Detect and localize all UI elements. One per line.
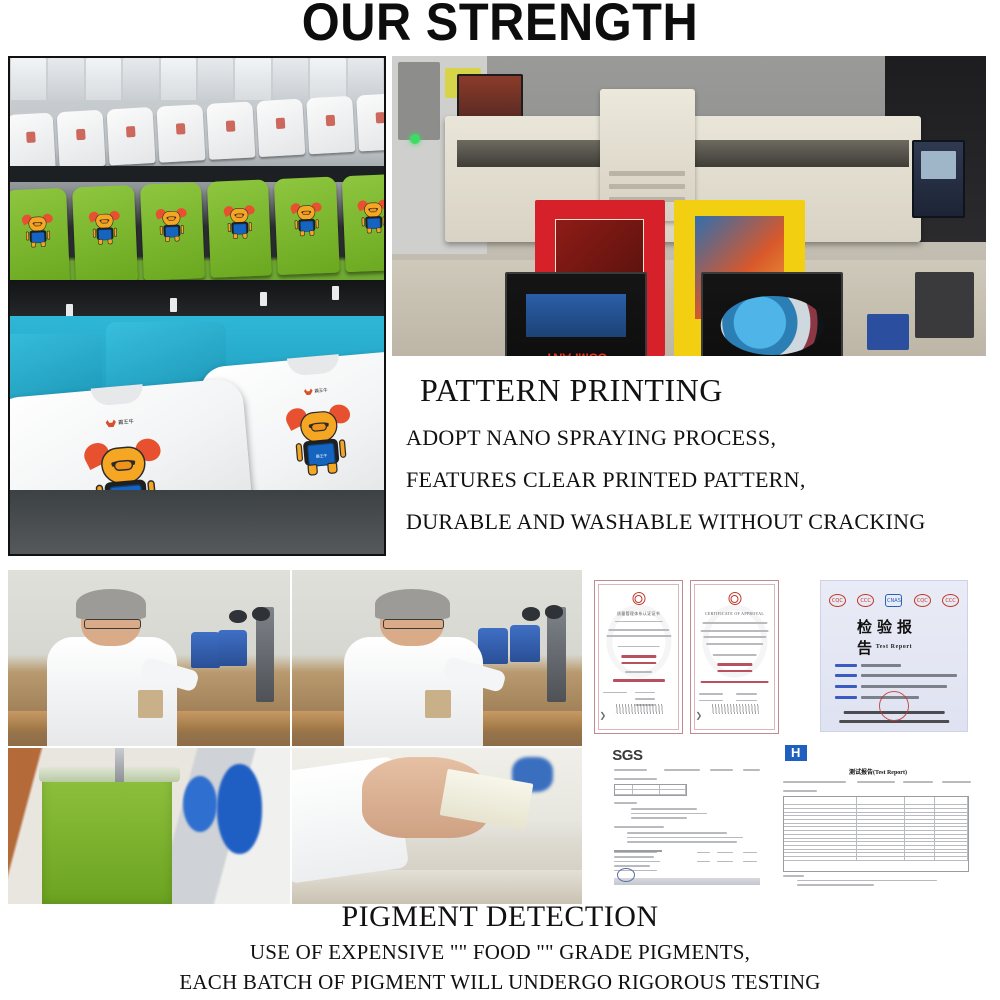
report-text <box>631 813 707 815</box>
white-shirt-pallet <box>306 96 355 154</box>
bull-arm-icon <box>295 220 298 229</box>
bull-leg-icon <box>300 231 305 237</box>
bull-leg-icon <box>309 230 314 236</box>
photo-hand-test-strip <box>292 748 582 904</box>
bull-leg-icon <box>327 462 338 474</box>
bull-snout-icon <box>100 219 108 224</box>
page-title: OUR STRENGTH <box>0 0 1000 48</box>
infographic-page: OUR STRENGTH <box>0 0 1000 1000</box>
photo-lab-technician-testing <box>292 570 582 746</box>
bull-leg-icon <box>98 239 103 245</box>
certificate-standard <box>717 670 752 673</box>
technician-hair <box>375 589 450 619</box>
certificate-iso-chinese: 质量管理体系认证证书 ❯ <box>592 578 685 736</box>
field-value <box>861 685 947 688</box>
bull-arm-icon <box>114 228 117 237</box>
white-shirt-pallet <box>156 104 205 162</box>
certificate-title: 质量管理体系认证证书 <box>617 611 660 617</box>
mascot-print <box>291 201 321 237</box>
table-row-line <box>614 865 651 867</box>
report-field <box>942 781 972 783</box>
blue-mixer-unit <box>218 630 247 666</box>
certificate-inspection-report: CQC CCC CNAS CQC CCC 检验报告 Test Report <box>820 580 968 732</box>
bull-mascot-icon <box>22 212 52 248</box>
white-shirt-pallet <box>356 93 386 151</box>
blue-container <box>867 314 909 350</box>
mascot-print <box>157 207 187 243</box>
field-value <box>861 674 957 677</box>
certificate-line <box>703 636 766 638</box>
equipment-stand <box>547 607 566 702</box>
certificate-field <box>699 700 723 702</box>
wall-cables <box>398 62 440 140</box>
h-lab-logo: H <box>785 745 807 761</box>
black-shirt-sharks: SHARKS <box>701 272 844 356</box>
table-value <box>697 861 710 863</box>
bull-mascot-icon <box>90 210 120 246</box>
certificate-field <box>635 698 655 700</box>
printhead-vent <box>609 171 685 176</box>
report-section <box>614 802 637 804</box>
equipment-knob-icon <box>545 605 564 619</box>
bull-snout-icon <box>235 213 243 218</box>
table-row-line <box>614 852 657 854</box>
bull-leg-icon <box>377 227 382 233</box>
table-value <box>717 861 734 863</box>
safety-glasses-icon <box>383 619 444 630</box>
bull-leg-icon <box>367 228 372 234</box>
bull-head-logo-icon <box>105 419 116 427</box>
lab-technician <box>47 595 177 746</box>
printhead-vent <box>609 184 685 189</box>
certification-logos-row: CQC CCC CNAS CQC CCC <box>829 591 959 611</box>
shirt-collar <box>91 384 144 406</box>
hanging-garment <box>161 58 196 100</box>
table-value <box>697 852 710 854</box>
power-indicator-icon <box>410 134 420 144</box>
hanging-garment <box>86 58 121 100</box>
pattern-printing-line-3: DURABLE AND WASHABLE WITHOUT CRACKING <box>406 509 1000 535</box>
bull-snout-icon <box>168 216 176 221</box>
report-text <box>627 841 737 843</box>
white-shirt-pallet <box>256 99 305 157</box>
pallet-clip <box>170 298 177 312</box>
inspection-report-title-en: Test Report <box>876 644 913 650</box>
certificate-mark-icon: ❯ <box>599 711 606 720</box>
blue-mixer-unit <box>510 625 540 661</box>
mascot-print: 霸王牛 霸王牛 <box>287 402 353 479</box>
report-section <box>614 778 657 780</box>
green-shirt-pallet <box>140 182 205 280</box>
white-shirt-pallet <box>8 113 56 171</box>
bull-mascot-icon <box>157 207 187 243</box>
overall-brand-text: 霸王牛 <box>316 452 328 459</box>
bull-leg-icon <box>242 233 247 239</box>
certificate-line <box>608 629 669 631</box>
report-field <box>903 781 933 783</box>
report-text <box>627 837 743 839</box>
bull-leg-icon <box>40 242 45 248</box>
certificate-standard <box>621 655 656 658</box>
green-shirt-row <box>8 174 386 291</box>
technician-hair <box>76 589 146 619</box>
bull-head-logo-icon <box>304 388 313 395</box>
equipment-knob-icon <box>252 607 270 621</box>
certificate-iso-english: CERTIFICATE OF APPROVAL ❯ <box>688 578 781 736</box>
printer-control-panel[interactable] <box>912 140 965 218</box>
table-value <box>717 852 734 854</box>
bull-arm-icon <box>295 443 303 462</box>
green-shirt-pallet <box>72 185 137 283</box>
report-field <box>857 781 895 783</box>
pigment-detection-heading: PIGMENT DETECTION <box>0 900 1000 934</box>
certificate-standard <box>717 663 752 666</box>
report-note <box>783 875 804 877</box>
hanging-garment <box>123 58 158 100</box>
blue-mixer-unit <box>191 632 220 668</box>
certificate-mark-icon: ❯ <box>695 711 702 720</box>
bull-arm-icon <box>25 231 28 240</box>
bull-arm-icon <box>339 439 347 458</box>
ccc-logo-icon-2: CCC <box>942 594 959 607</box>
bull-arm-icon <box>93 229 96 238</box>
report-section <box>783 790 817 792</box>
field-label <box>835 696 857 699</box>
certificate-scope <box>612 679 664 682</box>
certificate-line <box>606 635 671 637</box>
report-text <box>631 808 697 810</box>
hanging-garment <box>198 58 233 100</box>
bull-leg-icon <box>108 239 113 245</box>
equipment-knob-icon <box>522 607 541 621</box>
white-shirt-pallet <box>57 110 106 168</box>
safety-glasses-icon <box>84 619 141 630</box>
sgs-test-report: SGS <box>604 742 770 892</box>
green-shirt-pallet <box>207 179 272 277</box>
certificate-title: CERTIFICATE OF APPROVAL <box>705 611 764 616</box>
field-label <box>835 674 857 677</box>
background-equipment <box>183 776 217 832</box>
table-row-line <box>614 861 660 863</box>
panel-display <box>921 151 957 179</box>
hanging-garments-row <box>10 58 384 100</box>
report-field <box>664 769 701 771</box>
hanging-garment <box>273 58 308 100</box>
bull-arm-icon <box>316 219 319 228</box>
certificate-line <box>614 621 662 623</box>
bull-mascot-icon: 霸王牛 霸王牛 <box>287 402 353 479</box>
bull-leg-icon <box>165 236 170 242</box>
bull-snout-icon <box>302 211 310 216</box>
ccc-logo-icon: CCC <box>857 594 874 607</box>
sgs-logo: SGS <box>612 747 642 764</box>
junior-company-artwork <box>526 294 626 338</box>
certificate-line <box>702 622 767 624</box>
lab-coat <box>344 637 483 746</box>
certificate-line <box>625 671 653 673</box>
inspection-report-title-zh: 检验报告 <box>857 616 931 658</box>
certificate-signature <box>614 704 662 714</box>
page-title-text: OUR STRENGTH <box>302 0 698 53</box>
certificate-signature <box>710 704 758 714</box>
mascot-print <box>90 210 120 246</box>
cqc-logo-icon-2: CQC <box>914 594 931 607</box>
photo-lab-technician-mixing <box>8 570 290 746</box>
bull-snout-icon <box>370 208 378 213</box>
pallet-clip <box>332 286 339 300</box>
bull-mascot-icon <box>224 204 254 240</box>
mascot-print <box>359 198 386 234</box>
field-value <box>861 664 901 667</box>
bull-mascot-icon <box>359 198 386 234</box>
table-row-line <box>614 856 654 858</box>
hanging-garment <box>235 58 270 100</box>
report-field <box>743 769 760 771</box>
table-value <box>743 852 756 854</box>
brand-name: 霸王牛 <box>314 387 328 394</box>
certificate-line <box>712 654 757 656</box>
certificate-seal-icon <box>632 592 645 605</box>
brand-logo: 霸王牛 <box>105 418 134 428</box>
photo-screen-printing-line: 霸王牛 霸王牛 <box>8 56 386 556</box>
sgs-seal-icon <box>617 868 635 882</box>
pigment-detection-section: PIGMENT DETECTION USE OF EXPENSIVE "" FO… <box>0 900 1000 1000</box>
report-field <box>614 769 647 771</box>
green-shirt-pallet <box>274 177 339 275</box>
certificate-standard <box>621 662 656 665</box>
report-section <box>614 826 664 828</box>
stirring-rod <box>115 748 123 782</box>
report-text <box>627 832 727 834</box>
green-shirt-pallet <box>341 174 386 272</box>
bull-snout-icon <box>33 222 41 227</box>
report-note <box>797 884 873 886</box>
photo-green-pigment-beaker <box>8 748 290 904</box>
pattern-printing-line-2: FEATURES CLEAR PRINTED PATTERN, <box>406 467 1000 493</box>
sample-bottle <box>425 690 451 718</box>
pigment-detection-line-1: USE OF EXPENSIVE "" FOOD "" GRADE PIGMEN… <box>0 940 1000 965</box>
bull-arm-icon <box>248 222 251 231</box>
report-footer-band <box>614 878 760 885</box>
bull-arm-icon <box>227 223 230 232</box>
certificate-scope <box>700 681 769 684</box>
hanging-garment <box>310 58 345 100</box>
beaker-with-green-pigment <box>42 770 172 904</box>
report-field <box>783 781 847 783</box>
bull-leg-icon <box>31 242 36 248</box>
hanging-garment <box>48 58 83 100</box>
white-shirt-pallet <box>106 107 155 165</box>
pigment-detection-line-2: EACH BATCH OF PIGMENT WILL UNDERGO RIGOR… <box>0 970 1000 995</box>
white-shirt-pallet <box>206 101 255 159</box>
lab-equipment-group <box>166 605 279 718</box>
chinese-test-report: H 测试报告(Test Report) <box>772 740 984 892</box>
certificate-line <box>700 630 769 632</box>
green-shirt-pallet <box>8 188 70 286</box>
bull-leg-icon <box>233 233 238 239</box>
equipment-knob-icon <box>229 610 247 624</box>
cn-test-report-title: 测试报告(Test Report) <box>849 767 907 776</box>
bull-mascot-icon <box>291 201 321 237</box>
hanging-garment <box>11 58 46 100</box>
photo-dtg-flatbed-printer: JUNIOR COMPANY SHARKS <box>392 56 986 356</box>
sample-info-table <box>614 784 687 796</box>
test-results-table <box>783 796 970 872</box>
floor-equipment <box>915 272 974 338</box>
pattern-printing-line-1: ADOPT NANO SPRAYING PROCESS, <box>406 425 1000 451</box>
brand-name: 霸王牛 <box>118 418 134 427</box>
black-shirt-junior-company: JUNIOR COMPANY <box>505 272 648 356</box>
bull-arm-icon <box>46 231 49 240</box>
pattern-printing-heading: PATTERN PRINTING <box>420 372 1000 409</box>
table-value <box>743 861 756 863</box>
equipment-stand <box>256 607 274 702</box>
pattern-printing-section: PATTERN PRINTING ADOPT NANO SPRAYING PRO… <box>392 372 1000 551</box>
certificate-field <box>699 693 723 695</box>
bull-leg-icon <box>175 236 180 242</box>
beaker-rim <box>39 767 180 783</box>
junior-company-label: JUNIOR COMPANY <box>521 350 632 356</box>
sample-bottle <box>138 690 163 718</box>
cnas-logo-icon: CNAS <box>885 594 902 607</box>
brand-logo: 霸王牛 <box>304 387 328 395</box>
report-field <box>710 769 733 771</box>
report-text <box>631 817 687 819</box>
field-label <box>835 664 857 667</box>
certificate-line <box>706 643 764 645</box>
conveyor-base <box>10 490 384 554</box>
field-label <box>835 685 857 688</box>
bull-leg-icon <box>307 464 318 476</box>
mascot-print <box>224 204 254 240</box>
background-equipment <box>217 764 262 854</box>
certificate-field <box>736 700 756 702</box>
pallet-clip <box>260 292 267 306</box>
bull-arm-icon <box>181 225 184 234</box>
bull-arm-icon <box>383 216 386 225</box>
cqc-logo-icon: CQC <box>829 594 846 607</box>
certificate-line <box>617 646 660 648</box>
lab-technician <box>344 595 483 746</box>
shark-artwork-icon <box>721 296 824 355</box>
certificate-seal-icon <box>728 592 741 605</box>
certificate-field <box>736 693 756 695</box>
shirt-collar <box>287 354 340 376</box>
mascot-print <box>22 212 52 248</box>
